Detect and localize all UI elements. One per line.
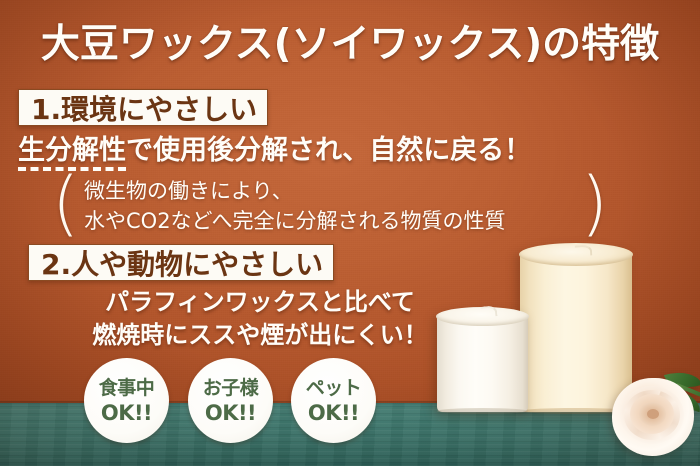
note-close-paren: ) <box>581 168 608 238</box>
badge-title: 食事中 <box>99 377 155 399</box>
section-1-lead: 生分解性で使用後分解され、自然に戻る！ <box>18 128 531 167</box>
section-1-heading: 1.環境にやさしい <box>18 89 268 126</box>
section-1-heading-label: 1.環境にやさしい <box>31 88 257 128</box>
section-2-heading-label: 2.人や動物にやさしい <box>41 243 323 283</box>
badge-ok-label: OK!! <box>308 401 359 425</box>
text-layer: 大豆ワックス(ソイワックス)の特徴 1.環境にやさしい 生分解性で使用後分解され… <box>0 0 700 466</box>
note-line-1: 微生物の働きにより、 <box>84 176 506 206</box>
badge-children-ok: お子様 OK!! <box>188 358 273 443</box>
section-2-line-2: 燃焼時にススや煙が出にくい！ <box>60 319 460 352</box>
section-2-body: パラフィンワックスと比べて 燃焼時にススや煙が出にくい！ <box>60 286 460 352</box>
soy-wax-infographic: 大豆ワックス(ソイワックス)の特徴 1.環境にやさしい 生分解性で使用後分解され… <box>0 0 700 466</box>
note-open-paren: ( <box>52 168 79 238</box>
note-line-2: 水やCO2などへ完全に分解される物質の性質 <box>84 206 506 236</box>
section-1-lead-rest: で使用後分解され、自然に戻る！ <box>126 135 531 166</box>
badge-pet-ok: ペット OK!! <box>291 358 376 443</box>
badge-ok-label: OK!! <box>205 401 256 425</box>
badge-title: お子様 <box>203 377 259 399</box>
page-title: 大豆ワックス(ソイワックス)の特徴 <box>0 13 700 69</box>
badge-title: ペット <box>306 377 362 399</box>
section-2-line-1: パラフィンワックスと比べて <box>60 286 460 319</box>
note-text: 微生物の働きにより、 水やCO2などへ完全に分解される物質の性質 <box>84 176 506 236</box>
badge-ok-label: OK!! <box>101 401 152 425</box>
section-1-note: ( 微生物の働きにより、 水やCO2などへ完全に分解される物質の性質 ) <box>52 174 608 238</box>
section-2-heading: 2.人や動物にやさしい <box>28 244 334 281</box>
badge-meal-ok: 食事中 OK!! <box>84 358 169 443</box>
